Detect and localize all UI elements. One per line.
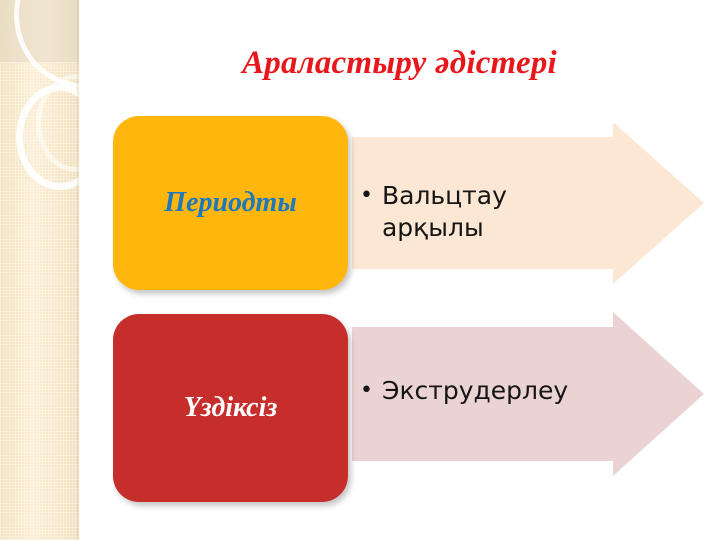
decorative-side-band [0, 0, 79, 540]
bullet-marker-icon: • [360, 180, 373, 212]
bullet-item-periodic: • Вальцтау арқылы [360, 180, 600, 244]
category-chip-periodic-label: Периодты [164, 187, 297, 219]
bullet-item-continuous: • Экструдерлеу [360, 375, 610, 407]
presentation-slide: Араластыру әдістері Периодты Үздіксіз • … [0, 0, 720, 540]
bullet-item-periodic-text: Вальцтау арқылы [382, 180, 600, 244]
bullet-marker-icon: • [360, 375, 373, 407]
category-chip-periodic[interactable]: Периодты [113, 116, 348, 290]
slide-title: Араластыру әдістері [79, 44, 720, 82]
category-chip-continuous-label: Үздіксіз [184, 392, 278, 424]
decorative-ring-icon [36, 74, 116, 172]
bullet-item-continuous-text: Экструдерлеу [382, 375, 568, 407]
category-chip-continuous[interactable]: Үздіксіз [113, 314, 348, 502]
